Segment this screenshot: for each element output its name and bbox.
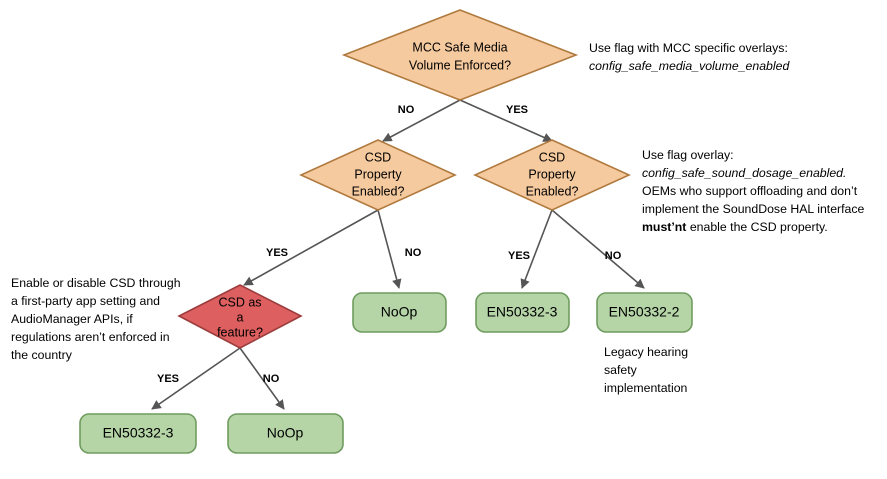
- node-en50332-3-middle[interactable]: EN50332-3: [476, 293, 569, 332]
- note-left-line-3: AudioManager APIs, if: [11, 312, 133, 326]
- node-csd-property-right[interactable]: CSD Property Enabled?: [475, 140, 629, 210]
- node-label-line-3: Enabled?: [352, 184, 405, 198]
- node-en50332-2[interactable]: EN50332-2: [597, 293, 692, 332]
- node-label-line-1: NoOp: [381, 304, 418, 320]
- node-label-line-1: EN50332-3: [487, 304, 558, 320]
- decision-diamond-shape: [344, 10, 576, 100]
- node-label-line-1: CSD: [539, 150, 565, 164]
- node-label-line-1: EN50332-2: [609, 304, 680, 320]
- node-label-line-1: EN50332-3: [103, 425, 174, 441]
- node-csd-as-a-feature[interactable]: CSD as a feature?: [179, 285, 301, 348]
- note-left-line-5: the country: [11, 348, 73, 362]
- note-sound-dosage-line-2: config_safe_sound_dosage_enabled.: [642, 166, 846, 180]
- note-legacy-line-1: Legacy hearing: [604, 345, 688, 359]
- node-label-line-1: NoOp: [267, 425, 304, 441]
- node-label-line-3: feature?: [217, 325, 263, 339]
- flowchart-svg: NO YES YES NO YES NO YES NO MCC Safe Med…: [0, 0, 887, 479]
- edge-csdleft-yes: [244, 210, 378, 285]
- flowchart-canvas: NO YES YES NO YES NO YES NO MCC Safe Med…: [0, 0, 887, 479]
- note-mcc-flag: Use flag with MCC specific overlays: con…: [589, 41, 790, 73]
- node-label-line-2: Property: [354, 167, 402, 181]
- node-label-line-2: Volume Enforced?: [409, 58, 511, 72]
- edge-csdright-no: [552, 210, 644, 288]
- node-label-line-2: Property: [528, 167, 576, 181]
- node-noop-bottom[interactable]: NoOp: [228, 414, 343, 453]
- edge-root-no: [383, 100, 460, 141]
- node-csd-property-left[interactable]: CSD Property Enabled?: [301, 140, 455, 210]
- note-mcc-flag-line-1: Use flag with MCC specific overlays:: [589, 41, 788, 55]
- node-en50332-3-bottom[interactable]: EN50332-3: [80, 414, 196, 453]
- note-sound-dosage-bold-word: must’nt: [642, 220, 686, 234]
- note-sound-dosage-line-3: OEMs who support offloading and don’t: [642, 184, 858, 198]
- note-sound-dosage-line-4: implement the SoundDose HAL interface: [642, 202, 865, 216]
- edge-label-csdright-yes: YES: [508, 250, 530, 262]
- node-mcc-safe-media-volume[interactable]: MCC Safe Media Volume Enforced?: [344, 10, 576, 100]
- node-noop-middle[interactable]: NoOp: [353, 293, 446, 332]
- note-mcc-flag-line-2: config_safe_media_volume_enabled: [589, 59, 790, 73]
- note-legacy-line-2: safety: [604, 363, 638, 377]
- edge-label-csdleft-yes: YES: [266, 247, 288, 259]
- note-left-line-2: a first-party app setting and: [11, 294, 160, 308]
- note-first-party-setting: Enable or disable CSD through a first-pa…: [11, 276, 181, 362]
- edge-label-csdleft-no: NO: [405, 247, 422, 259]
- edge-label-root-no: NO: [398, 104, 415, 116]
- note-legacy: Legacy hearing safety implementation: [604, 345, 688, 395]
- edge-label-feature-no: NO: [263, 373, 280, 385]
- note-left-line-1: Enable or disable CSD through: [11, 276, 181, 290]
- node-label-line-2: a: [237, 310, 244, 324]
- edge-label-root-yes: YES: [506, 104, 528, 116]
- note-sound-dosage: Use flag overlay: config_safe_sound_dosa…: [642, 148, 865, 234]
- note-sound-dosage-line-5: must’nt enable the CSD property.: [642, 220, 828, 234]
- note-sound-dosage-line-1: Use flag overlay:: [642, 148, 734, 162]
- node-label-line-1: CSD: [365, 150, 391, 164]
- edge-label-csdright-no: NO: [605, 250, 622, 262]
- note-legacy-line-3: implementation: [604, 381, 688, 395]
- node-label-line-1: CSD as: [218, 295, 261, 309]
- note-left-line-4: regulations aren’t enforced in: [11, 330, 170, 344]
- note-sound-dosage-rest: enable the CSD property.: [686, 220, 827, 234]
- edge-csdleft-no: [378, 210, 399, 288]
- node-label-line-1: MCC Safe Media: [412, 40, 507, 54]
- edge-label-feature-yes: YES: [157, 373, 179, 385]
- edges-layer: [152, 100, 644, 409]
- node-label-line-3: Enabled?: [526, 184, 579, 198]
